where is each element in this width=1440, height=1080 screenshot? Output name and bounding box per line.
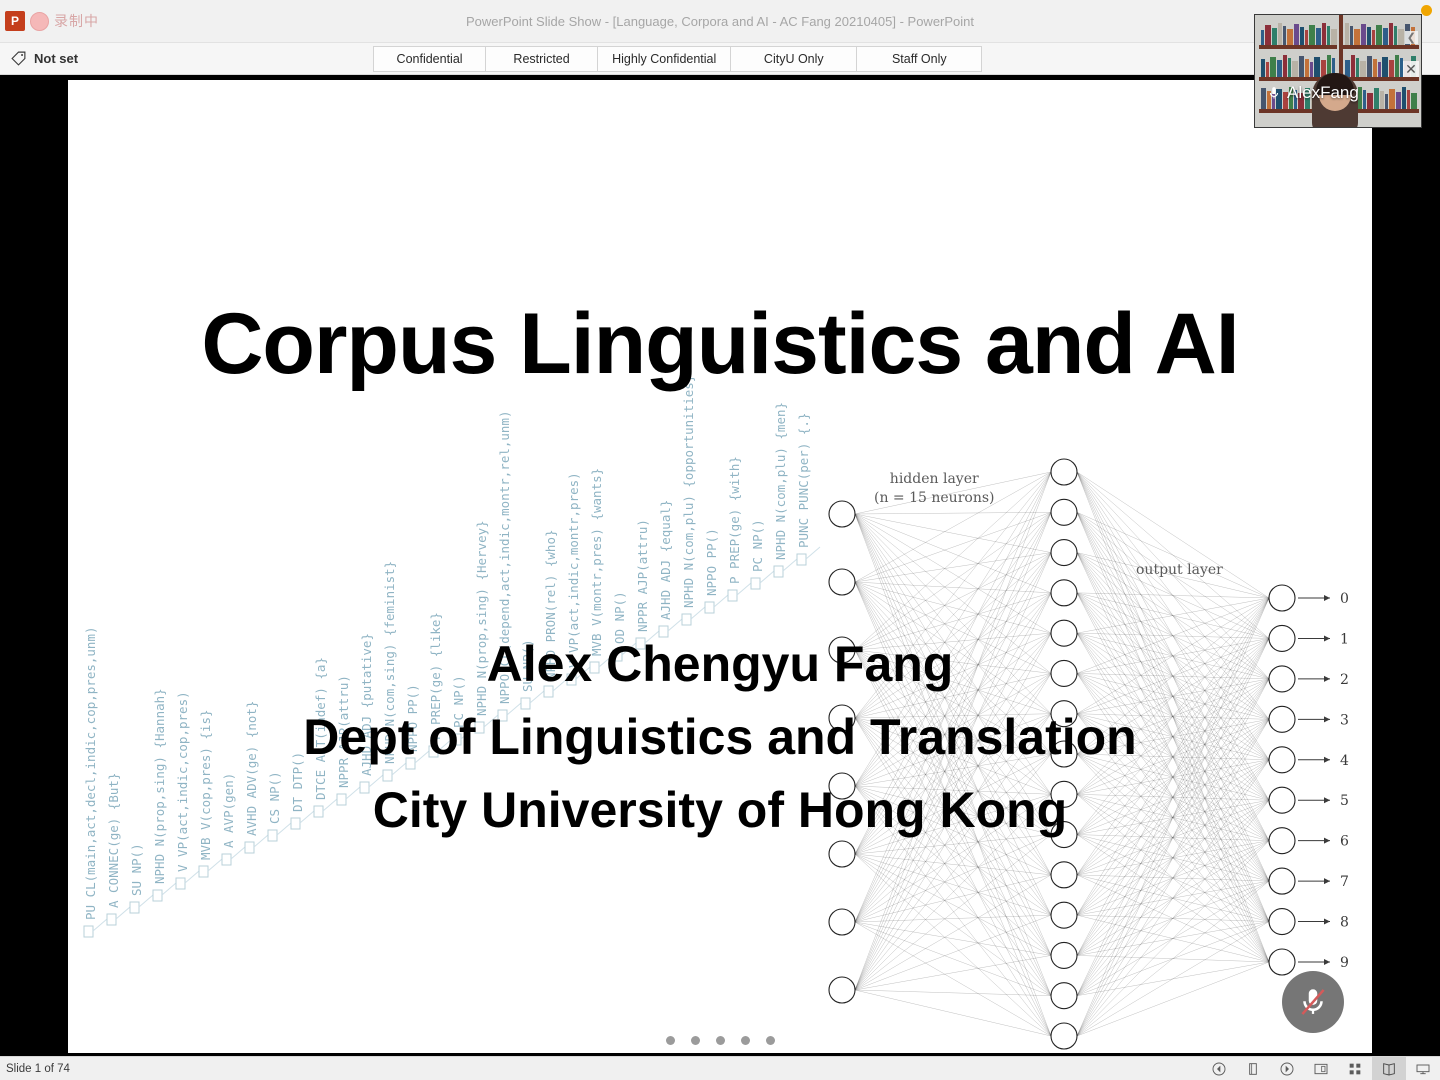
- bookshelf-book: [1283, 55, 1287, 77]
- neuron-node: [1269, 868, 1295, 894]
- bookshelf-shelf: [1343, 77, 1419, 81]
- bookshelf-book: [1389, 60, 1394, 77]
- neuron-node: [829, 569, 855, 595]
- neuron-node: [1051, 580, 1077, 606]
- parse-tree-line: NPHD N(com,plu) {men}: [774, 402, 787, 560]
- window-title: PowerPoint Slide Show - [Language, Corpo…: [0, 14, 1440, 29]
- bookshelf-book: [1305, 59, 1309, 77]
- parse-tree-line: PC NP(): [751, 519, 764, 572]
- bookshelf-book: [1331, 29, 1337, 45]
- bookshelf-book: [1394, 26, 1397, 45]
- stage-right-letterbox: [1372, 150, 1440, 1080]
- neuron-node: [829, 501, 855, 527]
- title-bar: P 录制中 PowerPoint Slide Show - [Language,…: [0, 0, 1440, 43]
- slide-stage: PU CL(main,act,decl,indic,cop,pres,unm)A…: [0, 75, 1440, 1055]
- parse-tree-line: AJHD ADJ {equal}: [659, 500, 672, 620]
- output-digit-label: 9: [1340, 955, 1349, 971]
- bookshelf-book: [1378, 62, 1381, 77]
- chevron-left-icon[interactable]: ❮: [1405, 31, 1418, 44]
- record-dot-icon: [30, 12, 49, 31]
- bookshelf-book: [1299, 56, 1304, 77]
- neuron-node: [829, 841, 855, 867]
- bookshelf-book: [1327, 26, 1330, 45]
- microphone-icon: [1267, 84, 1281, 102]
- bookshelf-book: [1265, 25, 1271, 45]
- recording-label: 录制中: [54, 11, 99, 31]
- bookshelf-book: [1372, 30, 1375, 45]
- bookshelf-book: [1373, 59, 1377, 77]
- bookshelf-book: [1356, 58, 1359, 77]
- all-slides-grid-icon[interactable]: [1338, 1057, 1372, 1080]
- close-icon[interactable]: ✕: [1403, 61, 1419, 77]
- slide-subtitle-line-3: City University of Hong Kong: [68, 781, 1372, 839]
- stage-left-letterbox: [0, 150, 68, 1080]
- bookshelf-book: [1288, 58, 1291, 77]
- classification-buttons: Confidential Restricted Highly Confident…: [373, 46, 982, 72]
- output-layer-label: output layer: [1136, 562, 1223, 578]
- slide-subtitle-line-1: Alex Chengyu Fang: [68, 635, 1372, 693]
- reading-view-icon[interactable]: [1372, 1057, 1406, 1080]
- powerpoint-icon: P: [5, 11, 25, 31]
- bookshelf-book: [1398, 29, 1404, 45]
- bookshelf-book: [1292, 61, 1298, 77]
- presenter-view-icon[interactable]: [1406, 1057, 1440, 1080]
- neuron-node: [1051, 862, 1077, 888]
- sensitivity-bar: Not set Confidential Restricted Highly C…: [0, 43, 1440, 75]
- speaker-notes-icon[interactable]: [1304, 1057, 1338, 1080]
- pen-tools-icon[interactable]: [1236, 1057, 1270, 1080]
- bookshelf-book: [1360, 61, 1366, 77]
- powerpoint-slideshow-window: P 录制中 PowerPoint Slide Show - [Language,…: [0, 0, 1440, 1080]
- mute-microphone-button[interactable]: [1282, 971, 1344, 1033]
- bookshelf-book: [1266, 62, 1269, 77]
- output-digit-label: 0: [1340, 591, 1349, 607]
- neuron-node: [1269, 585, 1295, 611]
- bookshelf-book: [1300, 27, 1304, 45]
- neuron-node: [1051, 983, 1077, 1009]
- bookshelf-shelf: [1259, 45, 1337, 49]
- slide-title: Corpus Linguistics and AI: [68, 295, 1372, 394]
- previous-slide-icon[interactable]: [1202, 1057, 1236, 1080]
- hidden-layer-label: hidden layer (n = 15 neurons): [874, 470, 994, 508]
- bookshelf-book: [1383, 28, 1388, 45]
- bookshelf-book: [1309, 25, 1315, 45]
- bookshelf-book: [1345, 60, 1350, 77]
- classification-highly-confidential-button[interactable]: Highly Confidential: [597, 46, 730, 72]
- status-bar: Slide 1 of 74: [0, 1056, 1440, 1080]
- sensitivity-label: Not set: [34, 51, 78, 66]
- status-dot-icon: [1421, 5, 1432, 16]
- bookshelf-book: [1361, 24, 1366, 45]
- bookshelf-book: [1294, 24, 1299, 45]
- parse-tree-line: SU NP(): [130, 843, 143, 896]
- webcam-video-panel[interactable]: AlexFang ❮ ✕: [1254, 14, 1422, 128]
- slide-nav-dot[interactable]: [691, 1036, 700, 1045]
- bookshelf-book: [1277, 60, 1282, 77]
- slide-nav-dot[interactable]: [741, 1036, 750, 1045]
- bookshelf-shelf: [1343, 45, 1419, 49]
- webcam-name-bar: AlexFang: [1255, 83, 1421, 103]
- bookshelf-book: [1351, 55, 1355, 77]
- neuron-node: [1051, 540, 1077, 566]
- slide-position-label: Slide 1 of 74: [6, 1063, 70, 1075]
- next-slide-icon[interactable]: [1270, 1057, 1304, 1080]
- neuron-node: [1269, 909, 1295, 935]
- neuron-node: [829, 977, 855, 1003]
- bookshelf-book: [1345, 23, 1349, 45]
- output-digit-label: 7: [1340, 874, 1349, 890]
- bookshelf-book: [1310, 62, 1313, 77]
- classification-staff-only-button[interactable]: Staff Only: [856, 46, 982, 72]
- bookshelf-book: [1314, 57, 1320, 77]
- neuron-node: [1051, 459, 1077, 485]
- microphone-muted-icon: [1296, 985, 1330, 1019]
- bookshelf-book: [1322, 23, 1326, 45]
- slide-nav-dot[interactable]: [766, 1036, 775, 1045]
- slide-navigation-dots[interactable]: [68, 1036, 1372, 1045]
- bookshelf-book: [1305, 30, 1308, 45]
- sensitivity-status[interactable]: Not set: [10, 50, 78, 67]
- bookshelf-book: [1367, 27, 1371, 45]
- bookshelf-book: [1367, 56, 1372, 77]
- output-digit-label: 8: [1340, 915, 1349, 931]
- webcam-participant-name: AlexFang: [1287, 83, 1359, 103]
- bookshelf-book: [1395, 55, 1399, 77]
- bookshelf-book: [1283, 26, 1286, 45]
- neuron-node: [829, 909, 855, 935]
- bookshelf-book: [1278, 23, 1282, 45]
- status-bar-controls: [1202, 1057, 1440, 1080]
- parse-tree-line: NPHD N(com,plu) {opportunities}: [682, 375, 695, 608]
- classification-confidential-button[interactable]: Confidential: [373, 46, 485, 72]
- bookshelf-book: [1389, 23, 1393, 45]
- neuron-node: [1051, 942, 1077, 968]
- neuron-node: [1051, 902, 1077, 928]
- bookshelf-book: [1350, 26, 1353, 45]
- tag-icon: [10, 50, 27, 67]
- recording-indicator[interactable]: 录制中: [30, 11, 99, 31]
- bookshelf-book: [1272, 28, 1277, 45]
- slide-nav-dot[interactable]: [666, 1036, 675, 1045]
- parse-tree-line: NPPO PP(): [705, 528, 718, 596]
- bookshelf-book: [1376, 25, 1382, 45]
- bookshelf-book: [1316, 28, 1321, 45]
- neuron-node: [1269, 949, 1295, 975]
- bookshelf-book: [1382, 57, 1388, 77]
- parse-tree-line: MVB V(montr,pres) {wants}: [590, 468, 603, 656]
- slide-nav-dot[interactable]: [716, 1036, 725, 1045]
- bookshelf-book: [1261, 30, 1264, 45]
- bookshelf-book: [1354, 29, 1360, 45]
- parse-tree-line: NPPR AJP(attru): [636, 519, 649, 632]
- slide-subtitle-line-2: Dept of Linguistics and Translation: [68, 708, 1372, 766]
- bookshelf-book: [1287, 29, 1293, 45]
- classification-cityu-only-button[interactable]: CityU Only: [730, 46, 856, 72]
- parse-tree-line: P PREP(ge) {with}: [728, 456, 741, 584]
- bookshelf-book: [1270, 57, 1276, 77]
- neuron-node: [1051, 499, 1077, 525]
- bookshelf-book: [1261, 59, 1265, 77]
- slide-canvas[interactable]: PU CL(main,act,decl,indic,cop,pres,unm)A…: [68, 80, 1372, 1053]
- classification-restricted-button[interactable]: Restricted: [485, 46, 597, 72]
